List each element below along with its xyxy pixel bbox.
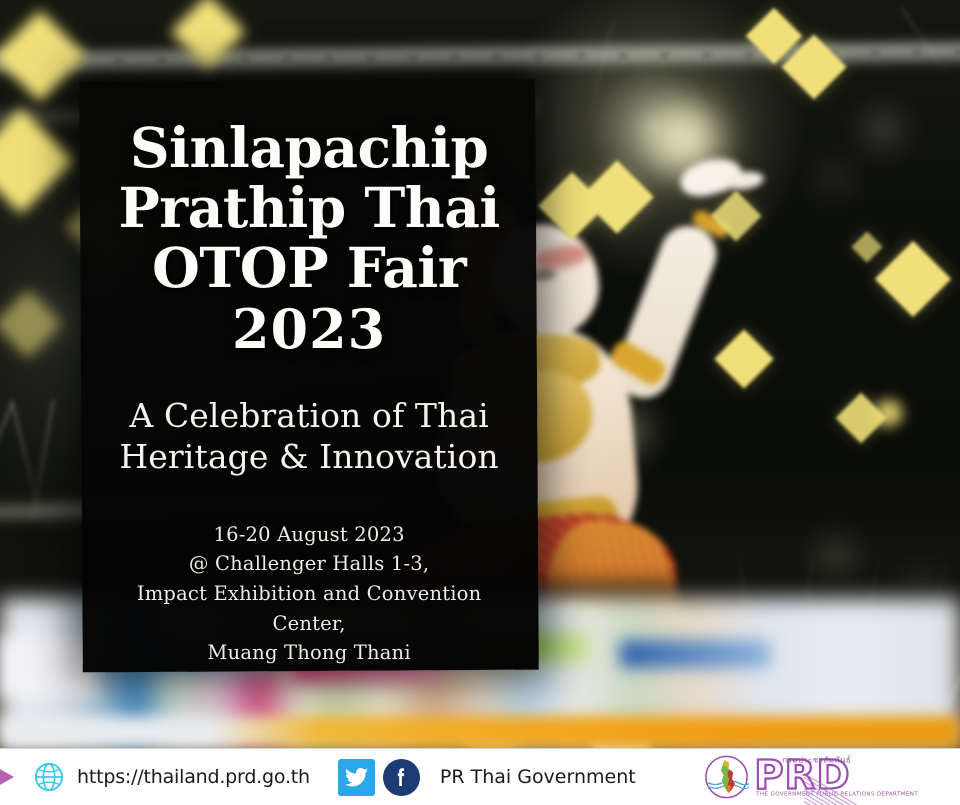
title-line-1: Sinlapachip bbox=[107, 118, 511, 178]
dancer-arm-upper bbox=[608, 218, 725, 406]
title-line-2: Prathip Thai bbox=[107, 178, 511, 238]
poster-text-panel: Sinlapachip Prathip Thai OTOP Fair 2023 … bbox=[79, 79, 539, 673]
detail-hall: @ Challenger Halls 1-3, bbox=[107, 549, 511, 579]
arrow-decoration-icon bbox=[0, 760, 14, 794]
booth-canopy bbox=[0, 636, 96, 698]
detail-date: 16-20 August 2023 bbox=[107, 520, 511, 550]
detail-venue: Impact Exhibition and Convention Center, bbox=[107, 579, 511, 638]
subtitle-line-2: Heritage & Innovation bbox=[107, 436, 511, 478]
exhibition-floor-strip bbox=[0, 716, 960, 748]
prd-wordmark: กรมประชาสัมพันธ์ PRD THE GOVERNMENT PUBL… bbox=[754, 756, 918, 798]
poster-subtitle: A Celebration of Thai Heritage & Innovat… bbox=[107, 395, 511, 478]
detail-location: Muang Thong Thani bbox=[107, 638, 511, 668]
social-links: PR Thai Government bbox=[338, 759, 636, 796]
twitter-icon[interactable] bbox=[338, 759, 375, 796]
prd-thai-name: กรมประชาสัมพันธ์ bbox=[782, 756, 918, 764]
event-poster: Sinlapachip Prathip Thai OTOP Fair 2023 … bbox=[0, 0, 960, 805]
subtitle-line-1: A Celebration of Thai bbox=[107, 395, 511, 437]
footer-bar: https://thailand.prd.go.th PR Thai Gover… bbox=[0, 748, 960, 805]
title-line-3: OTOP Fair bbox=[107, 238, 511, 298]
poster-title: Sinlapachip Prathip Thai OTOP Fair 2023 bbox=[107, 118, 511, 359]
facebook-icon[interactable] bbox=[383, 759, 420, 796]
social-account-name: PR Thai Government bbox=[440, 766, 636, 788]
prd-logo: กรมประชาสัมพันธ์ PRD THE GOVERNMENT PUBL… bbox=[704, 755, 918, 800]
poster-event-details: 16-20 August 2023 @ Challenger Halls 1-3… bbox=[107, 520, 511, 668]
booth-canopy bbox=[620, 640, 770, 668]
website-url[interactable]: https://thailand.prd.go.th bbox=[77, 766, 310, 788]
globe-icon bbox=[34, 762, 64, 792]
prd-full-name: THE GOVERNMENT PUBLIC RELATIONS DEPARTME… bbox=[756, 792, 918, 798]
title-year: 2023 bbox=[107, 300, 511, 359]
prd-seal-icon bbox=[704, 755, 749, 800]
